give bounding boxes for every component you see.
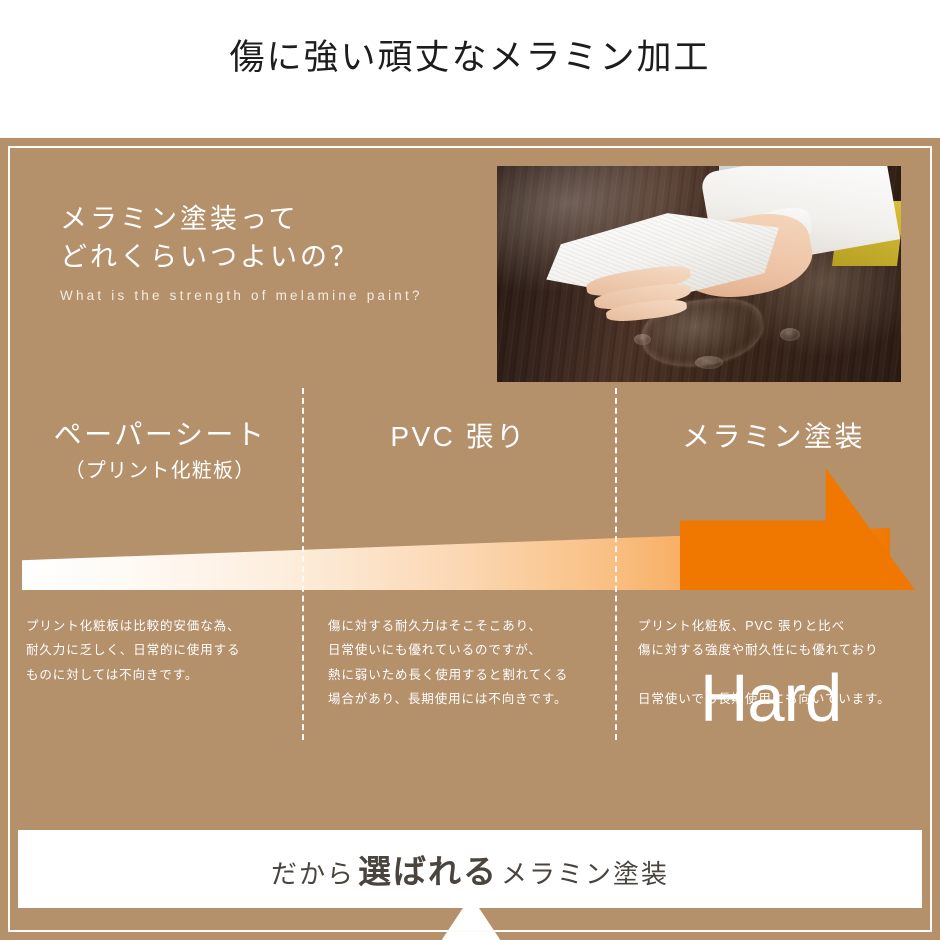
column-description-paper-sheet: プリント化粧板は比較的安価な為、 耐久力に乏しく、日常的に使用する ものに対して… bbox=[26, 614, 294, 687]
column-header-paper-sheet: ペーパーシート （プリント化粧板） bbox=[18, 418, 302, 483]
hard-label: Hard bbox=[700, 665, 841, 732]
page-title: 傷に強い頑丈なメラミン加工 bbox=[0, 36, 940, 80]
column-title: PVC 張り bbox=[302, 420, 615, 453]
column-subtitle: （プリント化粧板） bbox=[18, 454, 302, 483]
column-divider bbox=[302, 388, 304, 740]
column-header-melamine: メラミン塗装 bbox=[615, 420, 932, 453]
column-title: メラミン塗装 bbox=[615, 420, 932, 453]
column-description-pvc: 傷に対する耐久力はそこそこあり、 日常使いにも優れているのですが、 熱に弱いため… bbox=[328, 614, 613, 712]
column-header-pvc: PVC 張り bbox=[302, 420, 615, 453]
footer-text: だから 選ばれる メラミン塗装 bbox=[271, 845, 669, 893]
footer-text-suffix: メラミン塗装 bbox=[501, 854, 669, 891]
column-title: ペーパーシート bbox=[18, 418, 302, 451]
comparison-columns: ペーパーシート （プリント化粧板） PVC 張り メラミン塗装 プリント化粧板は… bbox=[0, 138, 940, 940]
comparison-panel: メラミン塗装って どれくらいつよいの？ What is the strength… bbox=[0, 138, 940, 940]
footer-band: だから 選ばれる メラミン塗装 bbox=[18, 830, 922, 908]
column-divider bbox=[615, 388, 617, 740]
footer-text-prefix: だから bbox=[271, 854, 355, 891]
footer-text-emphasis: 選ばれる bbox=[355, 845, 501, 893]
